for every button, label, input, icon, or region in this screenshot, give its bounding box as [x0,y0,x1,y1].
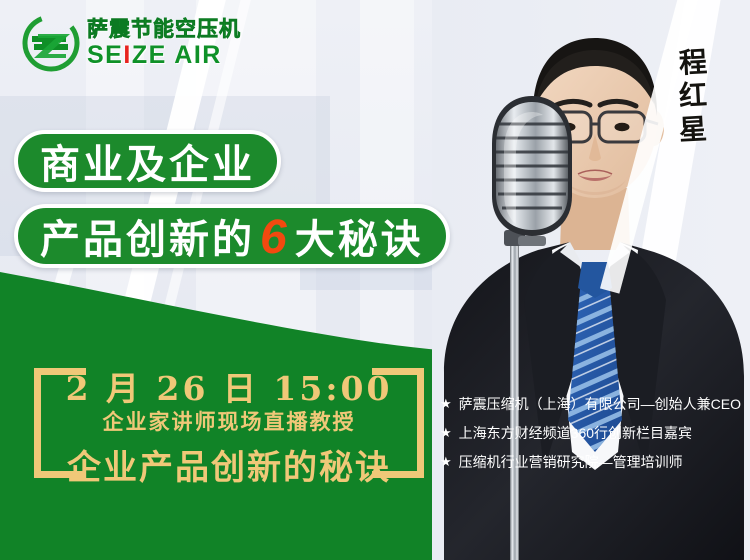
credential-text: 萨震压缩机（上海）有限公司—创始人兼CEO [459,396,741,413]
star-icon: ★ [440,454,452,471]
speaker-name-char: 红 [678,81,708,112]
brand-name-en-accent: I [123,41,131,69]
headline-line-1: 商业及企业 [40,132,255,190]
credentials-list: ★ 萨震压缩机（上海）有限公司—创始人兼CEO ★ 上海东方财经频道360行创新… [440,396,740,483]
brand-logo-text: 萨震节能空压机 SEIZE AIR [87,19,241,68]
list-item: ★ 萨震压缩机（上海）有限公司—创始人兼CEO [440,396,740,413]
star-icon: ★ [440,425,452,442]
credential-text: 压缩机行业营销研究院—管理培训师 [459,454,683,471]
list-item: ★ 压缩机行业营销研究院—管理培训师 [440,454,740,471]
star-icon: ★ [440,396,452,413]
event-detail-block: 2 月 26 日 15:00 企业家讲师现场直播教授 企业产品创新的秘诀 [34,356,424,498]
speaker-name-char: 程 [678,47,708,78]
speaker-name-char: 星 [678,114,708,145]
headline-number-badge: 6 [255,214,295,262]
list-item: ★ 上海东方财经频道360行创新栏目嘉宾 [440,425,740,442]
brand-name-en-part2: ZE AIR [132,41,222,69]
speaker-name-vertical: 程 红 星 [670,48,716,144]
brand-name-cn: 萨震节能空压机 [87,19,241,40]
brand-name-en-part1: SE [87,41,123,69]
event-topic: 企业产品创新的秘诀 [34,440,424,489]
headline-line-2-after: 大秘诀 [295,207,424,265]
headline-pill-primary: 商业及企业 [14,130,281,192]
headline-line-2-before: 产品创新的 [40,207,255,265]
brand-name-en: SEIZE AIR [87,43,241,68]
poster-canvas: 萨震节能空压机 SEIZE AIR 商业及企业 产品创新的 6 大秘诀 程 红 … [0,0,750,560]
event-subtitle: 企业家讲师现场直播教授 [34,406,424,436]
brand-logo[interactable]: 萨震节能空压机 SEIZE AIR [22,14,241,72]
credential-text: 上海东方财经频道360行创新栏目嘉宾 [459,425,692,442]
sz-circle-logo-icon [22,14,80,72]
event-datetime: 2 月 26 日 15:00 [34,362,424,410]
headline-pill-secondary: 产品创新的 6 大秘诀 [14,204,450,268]
